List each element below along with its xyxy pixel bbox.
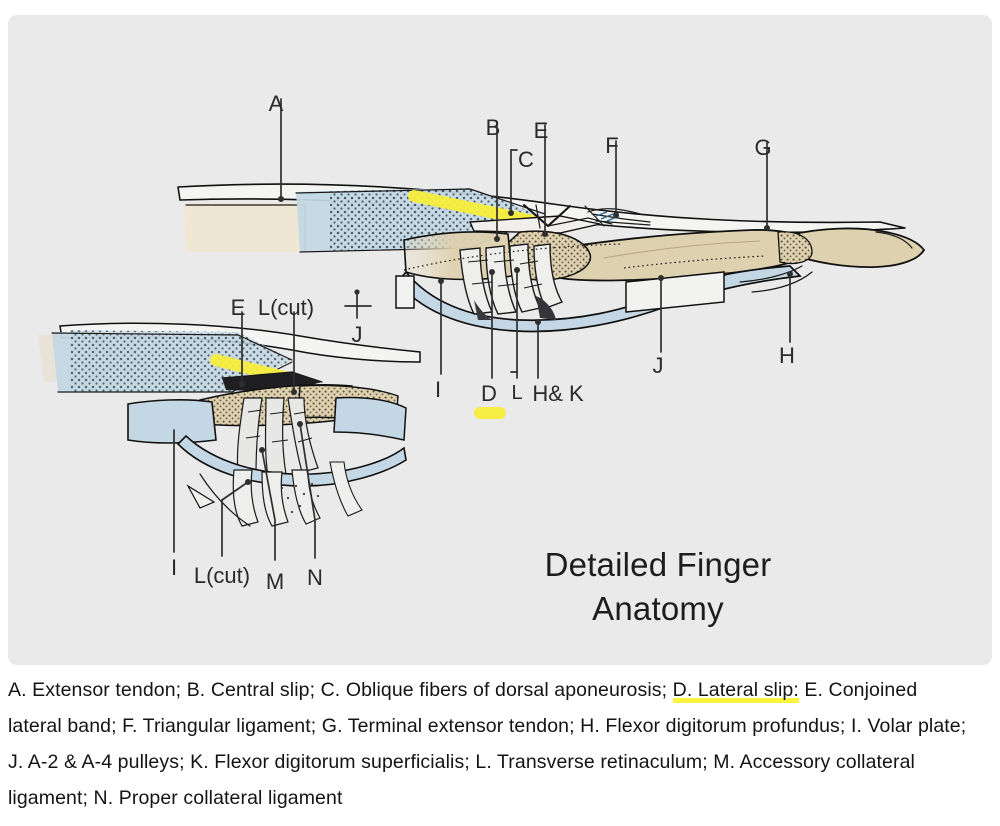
label-I-inset: I [171,555,177,580]
label-F: F [605,133,618,158]
label-G: G [754,135,771,160]
label-L-cut-bottom: L(cut) [194,563,250,588]
label-B: B [486,115,501,140]
caption-segment-1: A. Extensor tendon; B. Central slip; C. … [8,679,673,701]
label-H: H [779,343,795,368]
label-I-main: I [435,377,441,402]
inset-diagram-group [38,289,420,560]
label-L-main: L [511,382,522,404]
label-L-cut-top: L(cut) [258,295,314,320]
label-E-main: E [534,118,549,143]
label-M: M [266,569,284,594]
label-C: C [518,147,534,172]
label-J-main: J [653,353,664,378]
label-E-inset: E [231,295,246,320]
label-N: N [307,565,323,590]
figure-title: Detailed Finger Anatomy [508,543,808,631]
label-D: D [481,381,497,406]
anatomy-illustration: A B C E F G H I D L H& K J E L(cut) J I … [8,15,992,665]
caption-highlighted-term: D. Lateral slip: [673,679,799,703]
page-root: A B C E F G H I D L H& K J E L(cut) J I … [0,0,1000,826]
label-H-and-K: H& K [532,381,584,406]
label-A: A [269,91,284,116]
anatomy-figure-card[interactable]: A B C E F G H I D L H& K J E L(cut) J I … [8,15,992,665]
figure-caption: A. Extensor tendon; B. Central slip; C. … [8,672,976,816]
label-J-inset: J [352,322,363,347]
